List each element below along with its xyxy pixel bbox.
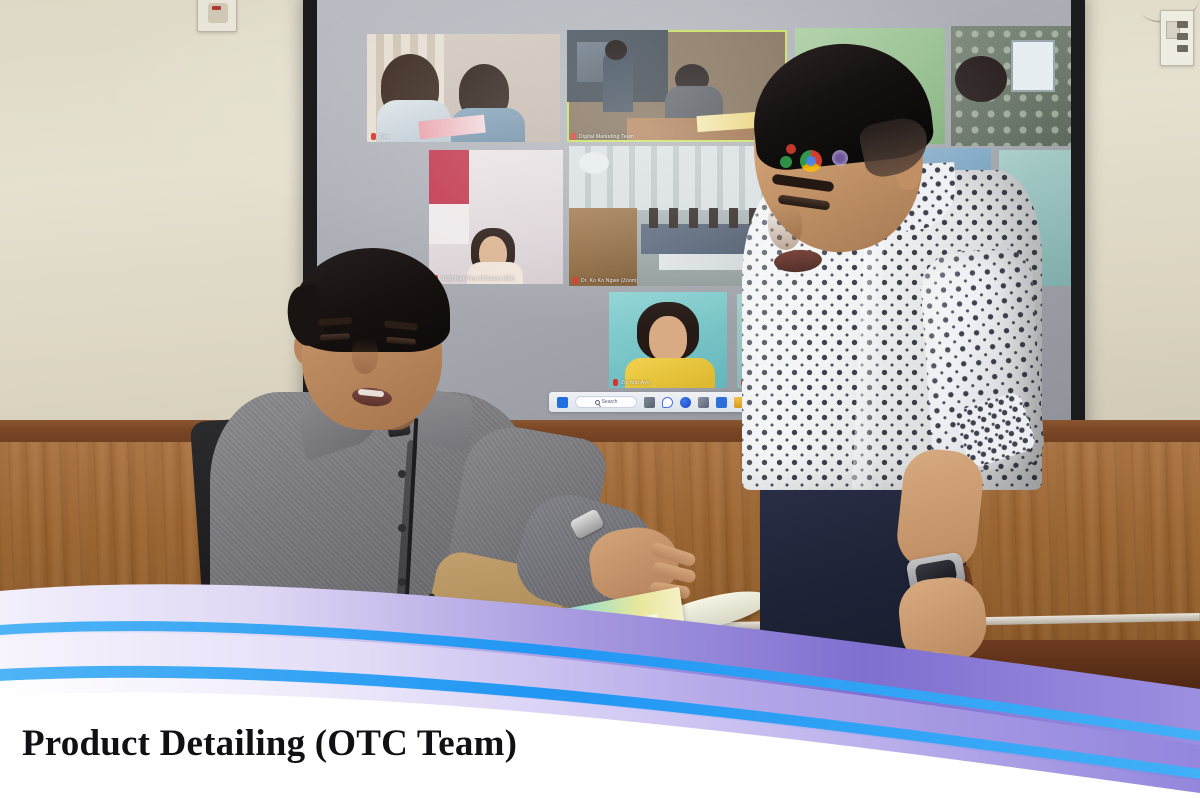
tile-label: Dr. Ko Ko Ngwe (Zoom) — [581, 278, 638, 284]
settings-icon[interactable] — [698, 397, 709, 408]
brochure-image-block — [618, 613, 659, 635]
task-view-icon[interactable] — [644, 397, 655, 408]
mic-indicator — [613, 379, 618, 386]
search-input[interactable]: Search — [575, 396, 637, 408]
windows-taskbar[interactable]: Search — [549, 392, 759, 412]
ac-panel-button-2[interactable] — [1177, 33, 1188, 40]
tile-label: Zaw — [379, 134, 389, 140]
wedding-ring — [922, 652, 940, 659]
mic-indicator — [571, 133, 576, 140]
tile-label: Digital Marketing Team — [579, 134, 634, 140]
seated-man-nose — [352, 338, 378, 374]
chat-icon[interactable] — [662, 397, 673, 408]
tile-label: Zin Mar Aye — [621, 380, 650, 386]
slide-title: Product Detailing (OTC Team) — [22, 722, 517, 765]
wall-switch-plate — [197, 0, 237, 32]
search-placeholder: Search — [602, 399, 618, 405]
tile-patterned-room[interactable] — [951, 26, 1071, 146]
tile-label: Shilit Han Phyu (Khulana MKt) — [441, 276, 514, 282]
ac-panel-button-3[interactable] — [1177, 45, 1188, 52]
ac-control-panel[interactable] — [1160, 10, 1194, 66]
switch-glyph — [208, 3, 228, 23]
start-icon[interactable] — [557, 397, 568, 408]
mic-indicator — [371, 133, 376, 140]
tile-woman-yellow[interactable]: Zin Mar Aye — [609, 292, 727, 388]
google-dot-red — [786, 144, 796, 154]
meeting-room-photo: Zaw Digital Marketing Team — [0, 0, 1200, 700]
brochure-line-2 — [480, 616, 618, 645]
google-dot-green — [780, 156, 792, 168]
app-icon-projection — [832, 150, 848, 166]
store-icon[interactable] — [716, 397, 727, 408]
mic-indicator — [573, 277, 578, 284]
shirt-button-1 — [398, 470, 406, 478]
edge-icon[interactable] — [680, 397, 691, 408]
tile-two-men[interactable]: Zaw — [367, 34, 560, 142]
search-icon — [595, 400, 600, 405]
chrome-logo-center — [806, 156, 816, 166]
ac-panel-button-1[interactable] — [1177, 21, 1188, 28]
slide-root: Zaw Digital Marketing Team — [0, 0, 1200, 799]
shirt-button-2 — [398, 524, 406, 532]
tile-woman-white[interactable]: Shilit Han Phyu (Khulana MKt) — [429, 150, 563, 284]
